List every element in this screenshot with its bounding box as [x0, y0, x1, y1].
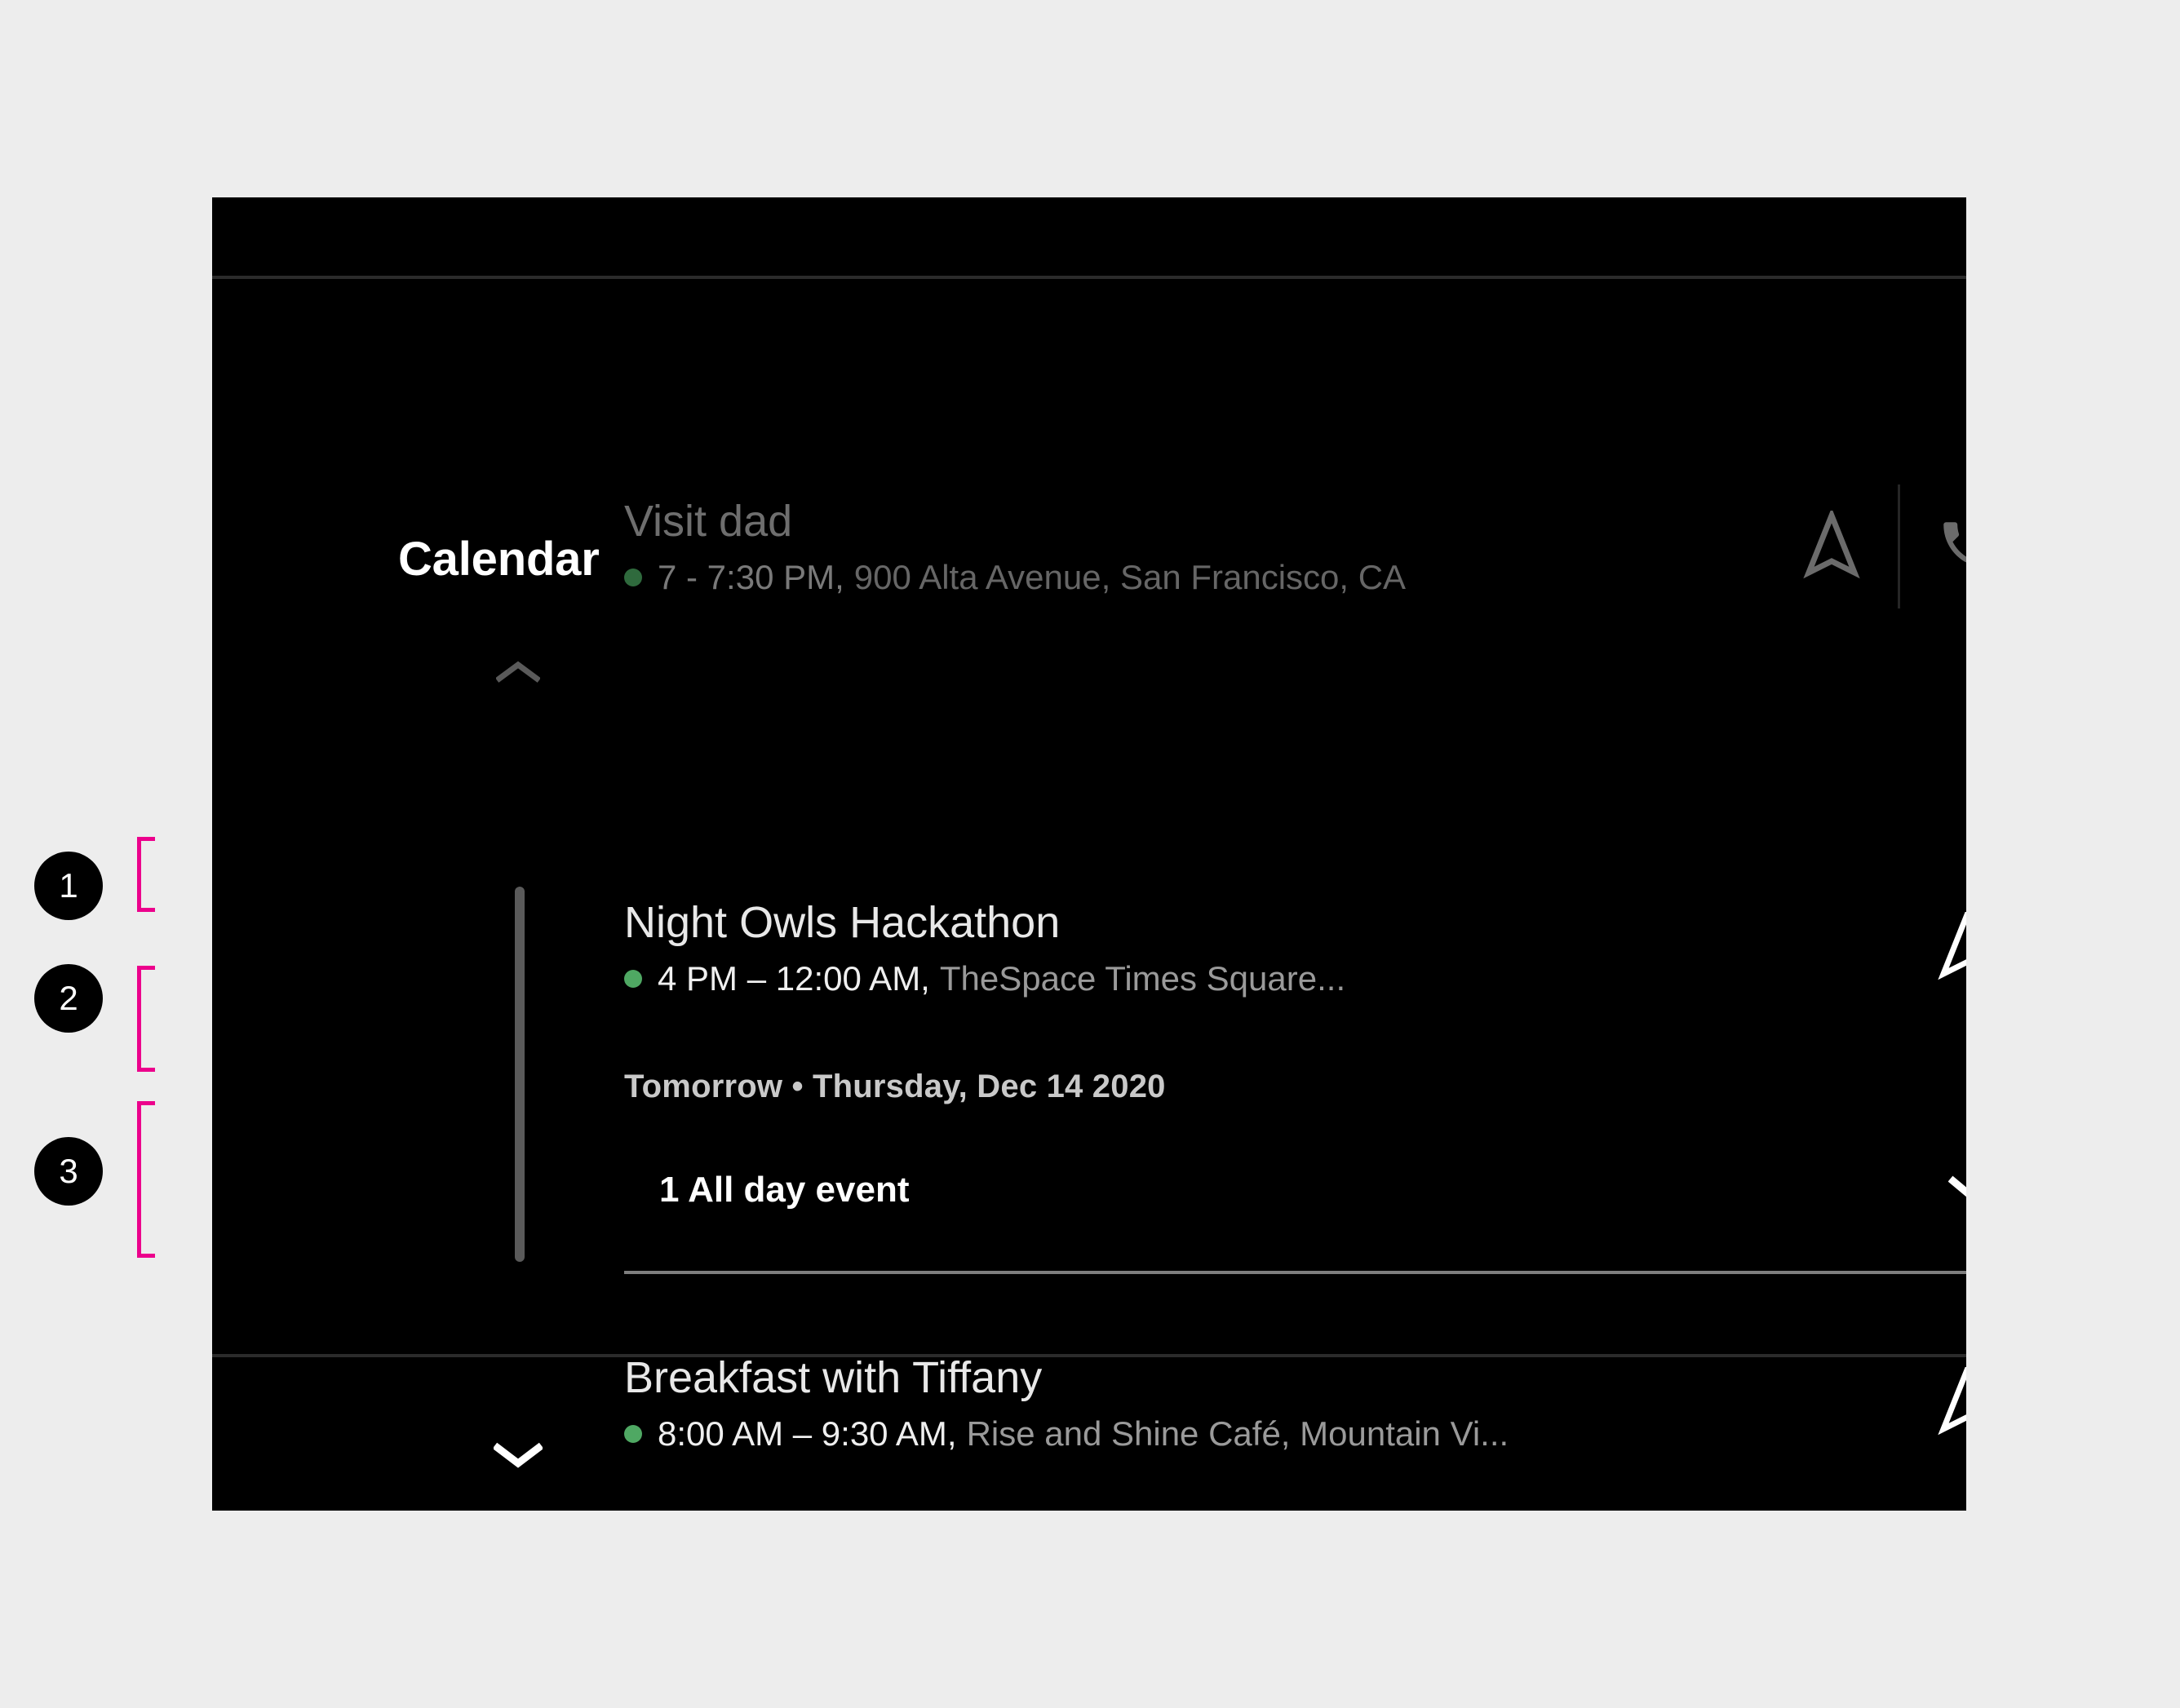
event-row-breakfast-with-tiffany[interactable]: Breakfast with Tiffany 8:00 AM – 9:30 AM… — [624, 1338, 1966, 1468]
annotation-badge-1: 1 — [34, 852, 103, 920]
all-day-event-label: 1 All day event — [659, 1170, 910, 1210]
annotation-callout-1: 1 — [34, 852, 103, 920]
action-divider — [1898, 485, 1900, 608]
event-title: Breakfast with Tiffany — [624, 1352, 1921, 1405]
event-location: TheSpace Times Square... — [940, 958, 1345, 999]
navigate-icon — [1937, 912, 1966, 985]
navigate-icon — [1937, 1367, 1966, 1440]
event-location: 900 Alta Avenue, San Francisco, CA — [854, 557, 1406, 598]
event-color-dot — [624, 1425, 642, 1443]
event-time: 7 - 7:30 PM, — [658, 557, 844, 598]
call-button[interactable] — [1921, 515, 1966, 579]
event-subtitle: 8:00 AM – 9:30 AM, Rise and Shine Café, … — [624, 1414, 1921, 1454]
scrollbar-thumb[interactable] — [515, 887, 525, 1262]
section-divider — [624, 1271, 1966, 1274]
event-subtitle: 7 - 7:30 PM, 900 Alta Avenue, San Franci… — [624, 557, 1787, 598]
chevron-down-icon — [1948, 1174, 1966, 1207]
date-header: Tomorrow • Thursday, Dec 14 2020 — [624, 1069, 1166, 1105]
page-title: Calendar — [398, 532, 600, 586]
event-title: Night Owls Hackathon — [624, 896, 1921, 950]
event-color-dot — [624, 970, 642, 988]
event-location: Rise and Shine Café, Mountain Vi... — [967, 1414, 1509, 1454]
call-icon — [1936, 515, 1966, 579]
annotation-callout-2: 2 — [34, 964, 103, 1033]
event-time: 4 PM – 12:00 AM, — [658, 958, 930, 999]
event-subtitle: 4 PM – 12:00 AM, TheSpace Times Square..… — [624, 958, 1921, 999]
annotation-badge-2: 2 — [34, 964, 103, 1033]
scrollbar[interactable] — [490, 654, 547, 1478]
navigate-icon — [1802, 511, 1861, 583]
annotation-badge-3: 3 — [34, 1137, 103, 1206]
event-text-block: Breakfast with Tiffany 8:00 AM – 9:30 AM… — [624, 1352, 1921, 1454]
scroll-down-button[interactable] — [490, 1437, 547, 1473]
chevron-up-icon — [496, 659, 540, 685]
navigate-button[interactable] — [1921, 1367, 1966, 1440]
event-text-block: Night Owls Hackathon 4 PM – 12:00 AM, Th… — [624, 896, 1921, 999]
all-day-expand-button[interactable] — [1940, 1174, 1966, 1207]
event-time: 8:00 AM – 9:30 AM, — [658, 1414, 957, 1454]
event-row-night-owls-hackathon[interactable]: Night Owls Hackathon 4 PM – 12:00 AM, Th… — [624, 883, 1966, 1013]
scroll-up-button[interactable] — [490, 654, 547, 690]
annotation-bracket-3 — [137, 1101, 155, 1258]
event-title: Visit dad — [624, 495, 1787, 549]
event-row-visit-dad[interactable]: Visit dad 7 - 7:30 PM, 900 Alta Avenue, … — [624, 481, 1966, 612]
all-day-event-row[interactable]: 1 All day event — [659, 1170, 1966, 1210]
event-actions — [1787, 481, 1966, 612]
event-actions — [1921, 883, 1966, 1013]
annotation-bracket-1 — [137, 837, 155, 912]
event-actions — [1921, 1338, 1966, 1468]
screen-top-bar — [212, 197, 1966, 279]
annotation-callout-3: 3 — [34, 1137, 103, 1206]
navigate-button[interactable] — [1921, 912, 1966, 985]
annotation-bracket-2 — [137, 966, 155, 1072]
event-text-block: Visit dad 7 - 7:30 PM, 900 Alta Avenue, … — [624, 495, 1787, 598]
navigate-button[interactable] — [1787, 511, 1876, 583]
chevron-down-icon — [494, 1440, 543, 1470]
calendar-screen: Calendar Visit dad — [212, 197, 1966, 1511]
event-color-dot — [624, 569, 642, 586]
